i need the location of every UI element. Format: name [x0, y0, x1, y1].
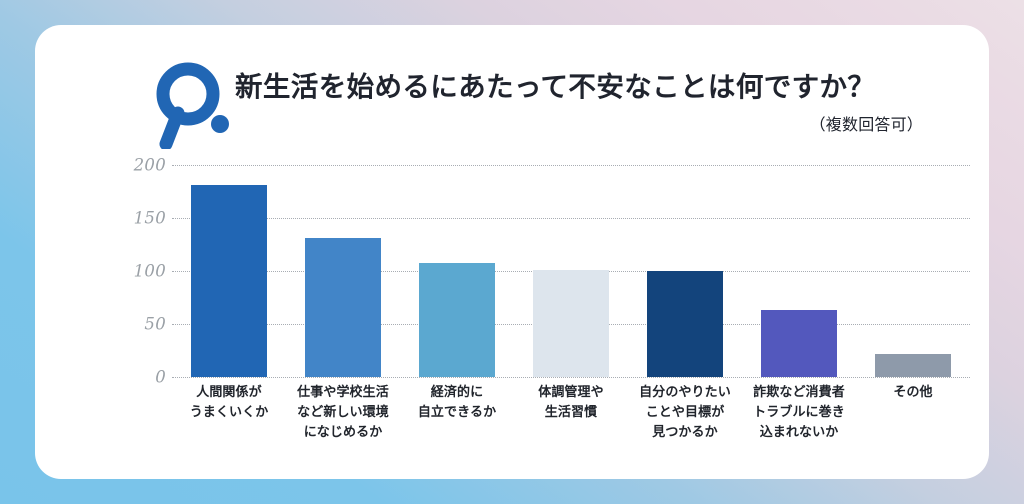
x-axis-label-line: 人間関係が [174, 383, 284, 403]
x-axis-label: 自分のやりたいことや目標が見つかるか [628, 383, 742, 443]
x-axis-label-line: ことや目標が [630, 403, 740, 423]
x-axis-label: 人間関係がうまくいくか [172, 383, 286, 443]
chart-subtitle: （複数回答可） [235, 111, 925, 135]
x-axis-label: 体調管理や生活習慣 [514, 383, 628, 443]
bar[interactable] [191, 185, 266, 377]
x-axis-label-line: その他 [858, 383, 968, 403]
y-axis-tick: 150 [120, 209, 166, 228]
x-axis-label-line: トラブルに巻き [744, 403, 854, 423]
x-axis-label-line: になじめるか [288, 423, 398, 443]
y-axis-tick: 200 [120, 156, 166, 175]
x-axis-label-line: 経済的に [402, 383, 512, 403]
x-axis-label: 経済的に自立できるか [400, 383, 514, 443]
x-axis-label-line: など新しい環境 [288, 403, 398, 423]
bar[interactable] [647, 271, 722, 377]
chart-header: 新生活を始めるにあたって不安なことは何ですか？ （複数回答可） [35, 25, 989, 155]
page-title: 新生活を始めるにあたって不安なことは何ですか？ [235, 71, 925, 104]
chart-card: 新生活を始めるにあたって不安なことは何ですか？ （複数回答可） 05010015… [35, 25, 989, 479]
x-axis-label-line: 自分のやりたい [630, 383, 740, 403]
y-axis-tick: 100 [120, 262, 166, 281]
x-axis-labels: 人間関係がうまくいくか仕事や学校生活など新しい環境になじめるか経済的に自立できる… [172, 383, 970, 443]
chart-plot-area: 050100150200 人間関係がうまくいくか仕事や学校生活など新しい環境にな… [110, 165, 970, 465]
x-axis-label: その他 [856, 383, 970, 443]
y-axis-tick: 0 [120, 368, 166, 387]
x-axis-label: 詐欺など消費者トラブルに巻き込まれないか [742, 383, 856, 443]
bar-slot [400, 165, 514, 377]
magnifier-q-logo-icon [148, 61, 240, 149]
x-axis-label-line: 生活習慣 [516, 403, 626, 423]
bar-series [172, 165, 970, 377]
bar-slot [172, 165, 286, 377]
bar[interactable] [761, 310, 836, 377]
bar-slot [742, 165, 856, 377]
bar[interactable] [305, 238, 380, 377]
bar[interactable] [419, 263, 494, 377]
bar-slot [628, 165, 742, 377]
x-axis-label-line: 自立できるか [402, 403, 512, 423]
x-axis-label-line: 見つかるか [630, 423, 740, 443]
x-axis-label: 仕事や学校生活など新しい環境になじめるか [286, 383, 400, 443]
x-axis-label-line: 仕事や学校生活 [288, 383, 398, 403]
screenshot-root: 新生活を始めるにあたって不安なことは何ですか？ （複数回答可） 05010015… [0, 0, 1024, 504]
x-axis-label-line: 詐欺など消費者 [744, 383, 854, 403]
bar-slot [514, 165, 628, 377]
title-block: 新生活を始めるにあたって不安なことは何ですか？ （複数回答可） [235, 71, 925, 135]
bar[interactable] [533, 270, 608, 377]
y-axis: 050100150200 [110, 165, 166, 377]
y-axis-tick: 50 [120, 315, 166, 334]
x-axis-label-line: 体調管理や [516, 383, 626, 403]
bar-slot [286, 165, 400, 377]
x-axis-label-line: 込まれないか [744, 423, 854, 443]
bar[interactable] [875, 354, 950, 377]
bar-slot [856, 165, 970, 377]
x-axis-label-line: うまくいくか [174, 403, 284, 423]
gridline [172, 377, 970, 378]
